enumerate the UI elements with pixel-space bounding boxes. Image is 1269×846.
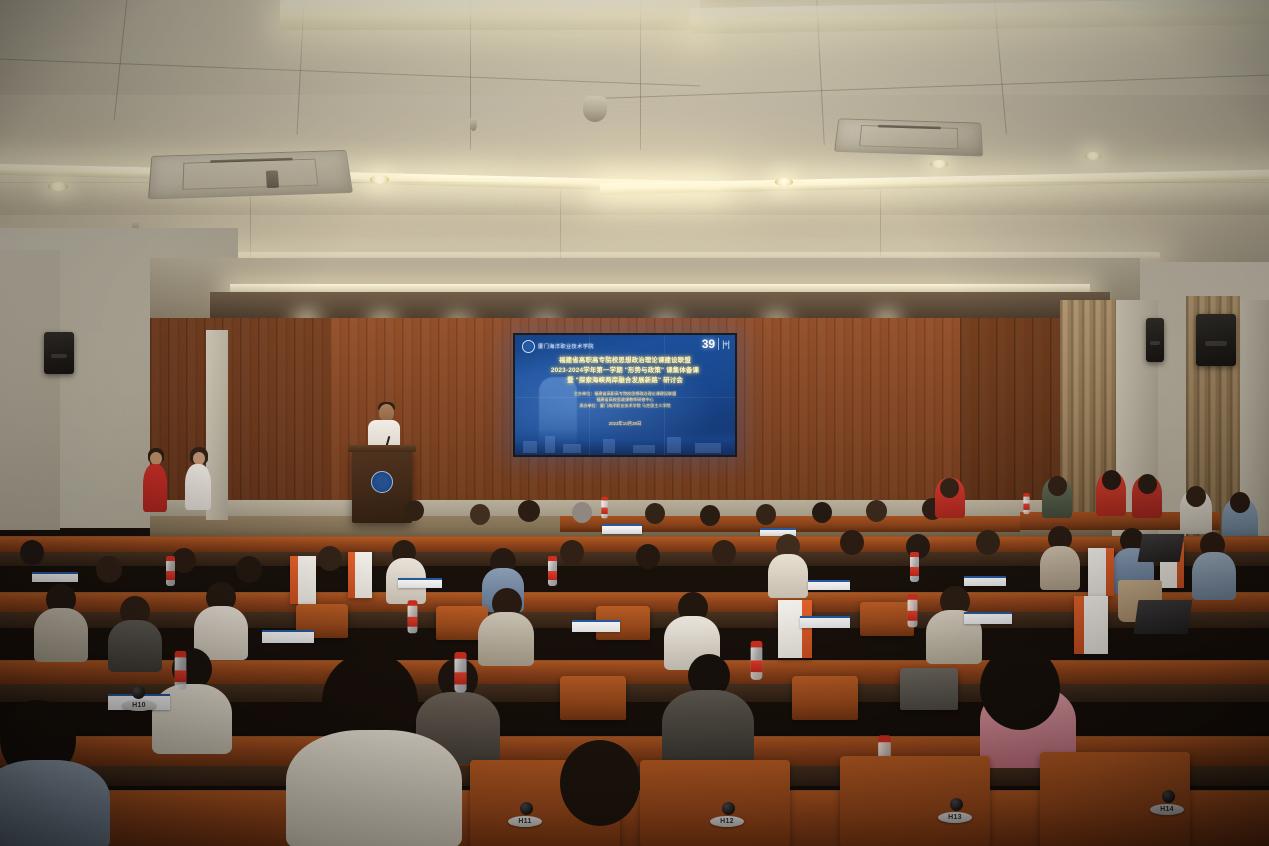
badge-mark: |+| [722, 339, 729, 349]
seat-back [860, 602, 914, 636]
conference-tote-bag [290, 556, 316, 604]
attendee-blue-shirt [1192, 552, 1236, 600]
water-bottle [166, 560, 175, 586]
attendee-beige-top [478, 612, 534, 666]
water-bottle [175, 656, 187, 690]
stage-wood-panel-left [150, 318, 330, 516]
attendee-beige-top [1040, 546, 1080, 590]
water-bottle [751, 646, 763, 680]
desk-name-card [32, 572, 78, 582]
ceiling-downlight [48, 182, 68, 191]
attendee-head [560, 540, 584, 565]
seat-label: H14 [1150, 804, 1184, 815]
cove-light-strip [280, 0, 700, 30]
attendee-head [96, 556, 122, 583]
seat-knob [950, 798, 963, 811]
standing-staff-red-vest [143, 464, 167, 512]
ceiling-downlight [1085, 152, 1101, 160]
led-video-wall: 厦门海洋职业技术学院 39 |+| 福建省高职高专院校思想政治理论课建设联盟 2… [513, 333, 737, 457]
attendee-head [404, 500, 424, 521]
attendee-light-top [768, 554, 808, 598]
attendee-dark-top [108, 620, 162, 672]
attendee-head [318, 546, 342, 571]
laptop [1138, 534, 1185, 562]
desk-name-card [964, 576, 1006, 586]
desk-name-card [800, 616, 850, 628]
ceiling-seam [250, 190, 251, 260]
ceiling-seam [560, 190, 561, 260]
attendee-head [236, 556, 262, 583]
attendee-head [636, 544, 660, 569]
sprinkler-head [470, 118, 477, 131]
standing-staff-white-top [185, 464, 211, 510]
seat-label: H10 [122, 700, 156, 711]
wall-speaker [1146, 318, 1164, 362]
water-bottle [908, 599, 918, 628]
conference-hall-photo: 厦门海洋职业技术学院 39 |+| 福建省高职高专院校思想政治理论课建设联盟 2… [0, 0, 1269, 846]
attendee-head [645, 503, 665, 524]
ceiling-ac-cassette [148, 150, 353, 199]
seat-knob [520, 802, 533, 815]
conference-tote-bag [1074, 596, 1108, 654]
attendee-head [1186, 486, 1206, 507]
seat-label: H12 [710, 816, 744, 827]
podium [352, 449, 412, 523]
ceiling-ac-cassette [834, 118, 983, 156]
attendee-beige-top [34, 608, 88, 662]
attendee-head [700, 505, 720, 526]
desk-name-card [262, 630, 314, 643]
attendee-head [1230, 492, 1250, 513]
attendee-head [812, 502, 832, 523]
conference-tote-bag [348, 552, 372, 598]
attendee-head [866, 500, 887, 522]
speaker-head [379, 404, 394, 421]
attendee-head [1138, 474, 1157, 494]
screen-date: 2023年10月28日 [515, 421, 735, 427]
seat-knob [722, 802, 735, 815]
ceiling-seam [880, 190, 881, 256]
badge-divider [718, 338, 719, 350]
attendee-head [712, 540, 736, 565]
screen-title-line-3: 暨 "探索海峡两岸融合发展新路" 研讨会 [521, 376, 729, 386]
ac-grille [266, 171, 279, 188]
seat-back [900, 668, 958, 710]
conference-tote-bag [1088, 548, 1114, 596]
seat-back [560, 676, 626, 720]
attendee-head [172, 548, 196, 573]
desk-name-card [398, 578, 442, 588]
attendee-head [980, 646, 1060, 730]
water-bottle [1023, 496, 1029, 514]
screen-skyline-graphic [515, 429, 735, 455]
ac-inner-panel [182, 159, 319, 190]
attendee-head [572, 502, 592, 523]
attendee-head [1102, 470, 1121, 490]
attendee-head [976, 530, 1000, 555]
desk-name-card [808, 580, 850, 590]
anniversary-badge: 39 |+| [702, 338, 729, 350]
screen-subtitle-line-3: 承办单位：厦门海洋职业技术学院 马克思主义学院 [525, 403, 725, 409]
attendee-head [560, 740, 640, 826]
water-bottle [548, 560, 557, 586]
seat-label: H13 [938, 812, 972, 823]
attendee-head [1048, 476, 1067, 496]
seat-label: H11 [508, 816, 542, 827]
attendee-head [518, 500, 540, 522]
school-crest-icon [522, 340, 535, 353]
attendee-denim-jacket [0, 760, 110, 846]
ceiling-downlight [775, 178, 793, 186]
wall-speaker [44, 332, 74, 374]
attendee-head [840, 530, 864, 555]
school-crest-icon [371, 471, 393, 493]
seat-knob [1162, 790, 1175, 803]
screen-logo-text: 厦门海洋职业技术学院 [538, 343, 594, 350]
water-bottle [408, 605, 418, 634]
desk-name-card [572, 620, 620, 632]
ac-inner-panel [859, 125, 958, 148]
screen-title: 福建省高职高专院校思想政治理论课建设联盟 2023-2024学年第一学期 "形势… [521, 356, 729, 386]
desk-name-card [602, 524, 642, 534]
screen-title-line-2: 2023-2024学年第一学期 "形势与政策" 课集体备课 [521, 366, 729, 376]
screen-institution-logo: 厦门海洋职业技术学院 [522, 340, 594, 353]
attendee-head [940, 478, 959, 498]
conference-tote-bag [778, 600, 812, 658]
attendee-dark-top [662, 690, 754, 768]
seat-back [640, 760, 790, 846]
seat-back [840, 756, 990, 846]
desk-name-card [964, 612, 1012, 624]
podium-top-surface [348, 445, 416, 452]
screen-subtitle: 主办单位：福建省高职高专院校思想政治理论课建设联盟 福建省高校思政课教师研修中心… [525, 391, 725, 410]
ceiling-downlight [930, 160, 948, 168]
water-bottle [910, 556, 919, 582]
attendee-head [470, 504, 490, 525]
ceiling-downlight [370, 175, 389, 184]
attendee-light-top [286, 730, 462, 846]
badge-number: 39 [702, 338, 715, 350]
water-bottle [601, 500, 607, 519]
seat-back [792, 676, 858, 720]
wall-pillar [0, 250, 60, 530]
laptop [1134, 600, 1193, 634]
wall-speaker [1196, 314, 1236, 366]
attendee-head [20, 540, 44, 565]
water-bottle [454, 657, 466, 692]
attendee-head [756, 504, 776, 525]
seat-knob [132, 686, 145, 699]
screen-title-line-1: 福建省高职高专院校思想政治理论课建设联盟 [521, 356, 729, 366]
